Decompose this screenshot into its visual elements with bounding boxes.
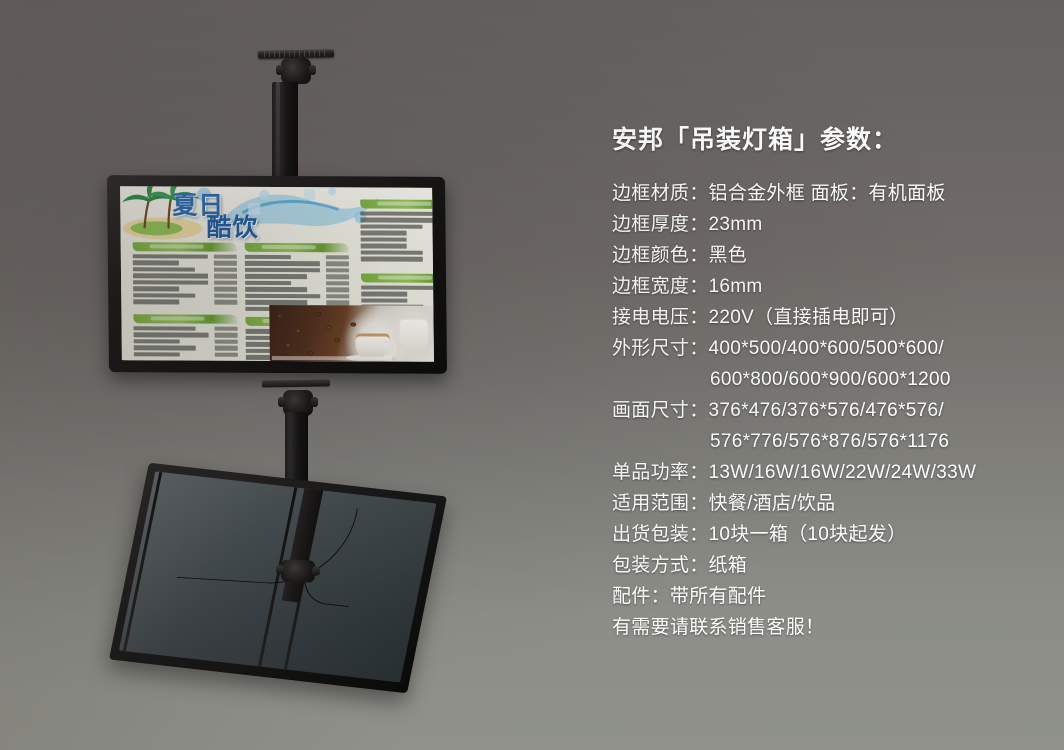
menu-row [360,211,434,216]
coffee-cup-back [399,320,427,350]
coffee-photo [269,305,434,362]
menu-row [245,255,349,260]
menu-row [361,285,434,290]
spec-line-image-size: 画面尺寸：376*476/376*576/476*576/ [612,395,1052,426]
spec-panel: 安邦「吊装灯箱」参数： 边框材质：铝合金外框 面板：有机面板 边框厚度：23mm… [612,120,1052,643]
spec-line-frame-material: 边框材质：铝合金外框 面板：有机面板 [612,178,1052,209]
menu-row [361,250,434,255]
spec-title: 安邦「吊装灯箱」参数： [612,120,1052,156]
menu-row [361,298,434,303]
menu-section-header [360,199,434,209]
spec-line-accessories: 配件：带所有配件 [612,581,1052,612]
menu-row [133,254,237,259]
menu-row [134,326,238,331]
swivel-knob-right [309,65,316,75]
menu-row [245,274,349,279]
menu-title: 夏日 酷饮 [172,194,343,241]
spec-line-contact: 有需要请联系销售客服！ [612,612,1052,643]
spec-line-voltage: 接电电压：220V（直接插电即可） [612,302,1052,333]
menu-section-header [361,273,434,283]
menu-row [133,287,237,292]
menu-row [361,292,434,297]
light-box-front: 夏日 酷饮 [107,175,447,374]
light-box-back-panel [119,471,437,682]
menu-section-rows [133,254,238,304]
menu-section-header [133,242,237,252]
menu-row [134,352,238,357]
ceiling-plate-screws [264,50,328,57]
spec-line-frame-color: 边框颜色：黑色 [612,240,1052,271]
clamp-knob-left [276,565,284,574]
spec-line-outer-size-cont: 600*800/600*900/600*1200 [612,364,1052,395]
menu-row [133,293,237,298]
menu-row [133,300,237,305]
menu-row [361,231,434,236]
menu-row [134,345,238,350]
spec-line-applications: 适用范围：快餐/酒店/饮品 [612,488,1052,519]
menu-row [360,218,434,223]
menu-row [134,339,238,344]
menu-section-header [133,314,237,324]
spec-line-image-size-cont: 576*776/576*876/576*1176 [612,426,1052,457]
product-photo-page: 夏日 酷饮 [0,0,1064,750]
mid-mount-plate [262,379,330,387]
swivel-knob-left [276,65,283,75]
menu-title-line2: 酷饮 [206,217,342,240]
menu-row [134,333,238,338]
menu-section-rows [245,255,350,312]
spec-line-outer-size: 外形尺寸：400*500/400*600/500*600/ [612,333,1052,364]
menu-row [245,287,349,292]
menu-row [133,280,237,285]
pole-highlight [276,82,280,186]
menu-row [133,261,237,266]
menu-row [361,244,434,249]
clamp-knob-right [312,566,320,575]
light-box-panel: 夏日 酷饮 [120,186,434,362]
menu-row [133,267,237,272]
spec-line-frame-width: 边框宽度：16mm [612,271,1052,302]
swivel-knob-left [278,397,285,407]
menu-row [361,257,434,262]
mount-pole-upper [272,82,298,186]
spec-line-shipping-pack: 出货包装：10块一箱（10块起发） [612,519,1052,550]
menu-row [360,224,433,229]
menu-footer-strip [272,356,392,361]
menu-column-3 [360,199,434,321]
menu-row [245,261,349,266]
menu-section-rows [360,211,434,261]
menu-artwork: 夏日 酷饮 [120,186,434,362]
spec-line-frame-thickness: 边框厚度：23mm [612,209,1052,240]
pole-clamp [281,559,316,582]
menu-section-rows [134,326,238,357]
swivel-joint-top [281,58,311,84]
menu-row [245,294,349,299]
menu-row [245,281,349,286]
menu-column-1 [133,242,238,362]
menu-row [245,268,349,273]
swivel-knob-right [311,397,318,407]
light-box-rear [109,463,447,694]
spec-line-power: 单品功率：13W/16W/16W/22W/24W/33W [612,457,1052,488]
product-photo: 夏日 酷饮 [0,0,580,750]
menu-section-header [245,243,349,253]
menu-row [361,237,434,242]
spec-line-packing-method: 包装方式：纸箱 [612,550,1052,581]
menu-row [133,274,237,279]
